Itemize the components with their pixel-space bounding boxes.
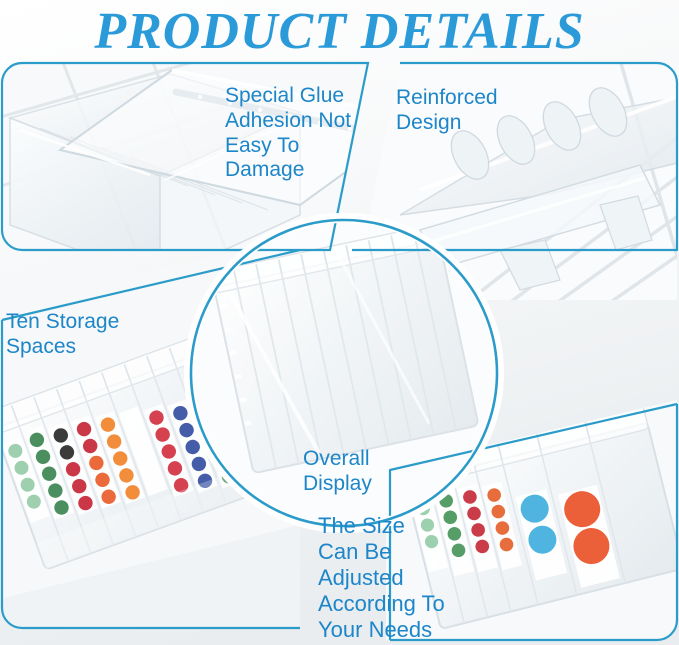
page-title: PRODUCT DETAILS: [0, 0, 679, 62]
callout-reinforced-design: Reinforced Design: [396, 86, 498, 136]
callout-special-glue: Special Glue Adhesion Not Easy To Damage: [225, 84, 351, 183]
callout-size-adjustable: The Size Can Be Adjusted According To Yo…: [318, 513, 445, 643]
callout-ten-storage-spaces: Ten Storage Spaces: [6, 310, 119, 360]
infographic-canvas: PRODUCT DETAILS Special Glue Adhesion No…: [0, 0, 679, 645]
callout-overall-display: Overall Display: [303, 447, 372, 497]
